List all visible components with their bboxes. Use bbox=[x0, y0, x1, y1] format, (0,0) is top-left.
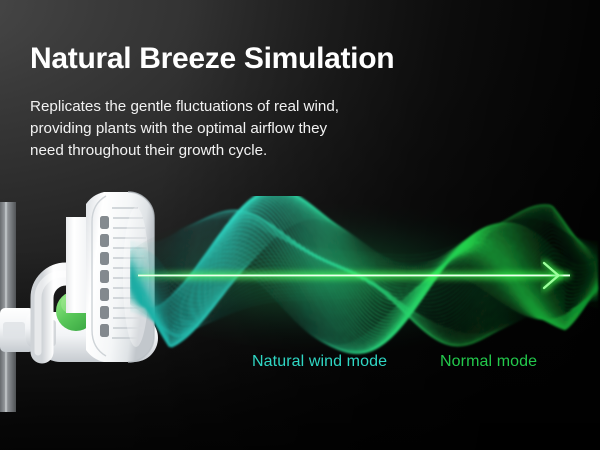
legend: Natural wind mode Normal mode bbox=[0, 353, 600, 377]
normal-mode-beam bbox=[138, 273, 570, 279]
wave-svg bbox=[130, 196, 600, 366]
feature-slide: Natural wind mode Normal mode Natural Br… bbox=[0, 0, 600, 450]
legend-label-natural-wind: Natural wind mode bbox=[252, 353, 387, 370]
airflow-wave-visualization bbox=[130, 196, 600, 366]
description-line-2: providing plants with the optimal airflo… bbox=[30, 118, 460, 140]
description-line-1: Replicates the gentle fluctuations of re… bbox=[30, 96, 460, 118]
legend-item-natural-wind: Natural wind mode bbox=[252, 353, 387, 371]
legend-label-normal-mode: Normal mode bbox=[440, 353, 537, 370]
legend-item-normal-mode: Normal mode bbox=[440, 353, 537, 371]
page-title: Natural Breeze Simulation bbox=[30, 42, 394, 75]
description-line-3: need throughout their growth cycle. bbox=[30, 140, 460, 162]
mounting-pole bbox=[0, 202, 16, 412]
description-text: Replicates the gentle fluctuations of re… bbox=[30, 96, 460, 162]
